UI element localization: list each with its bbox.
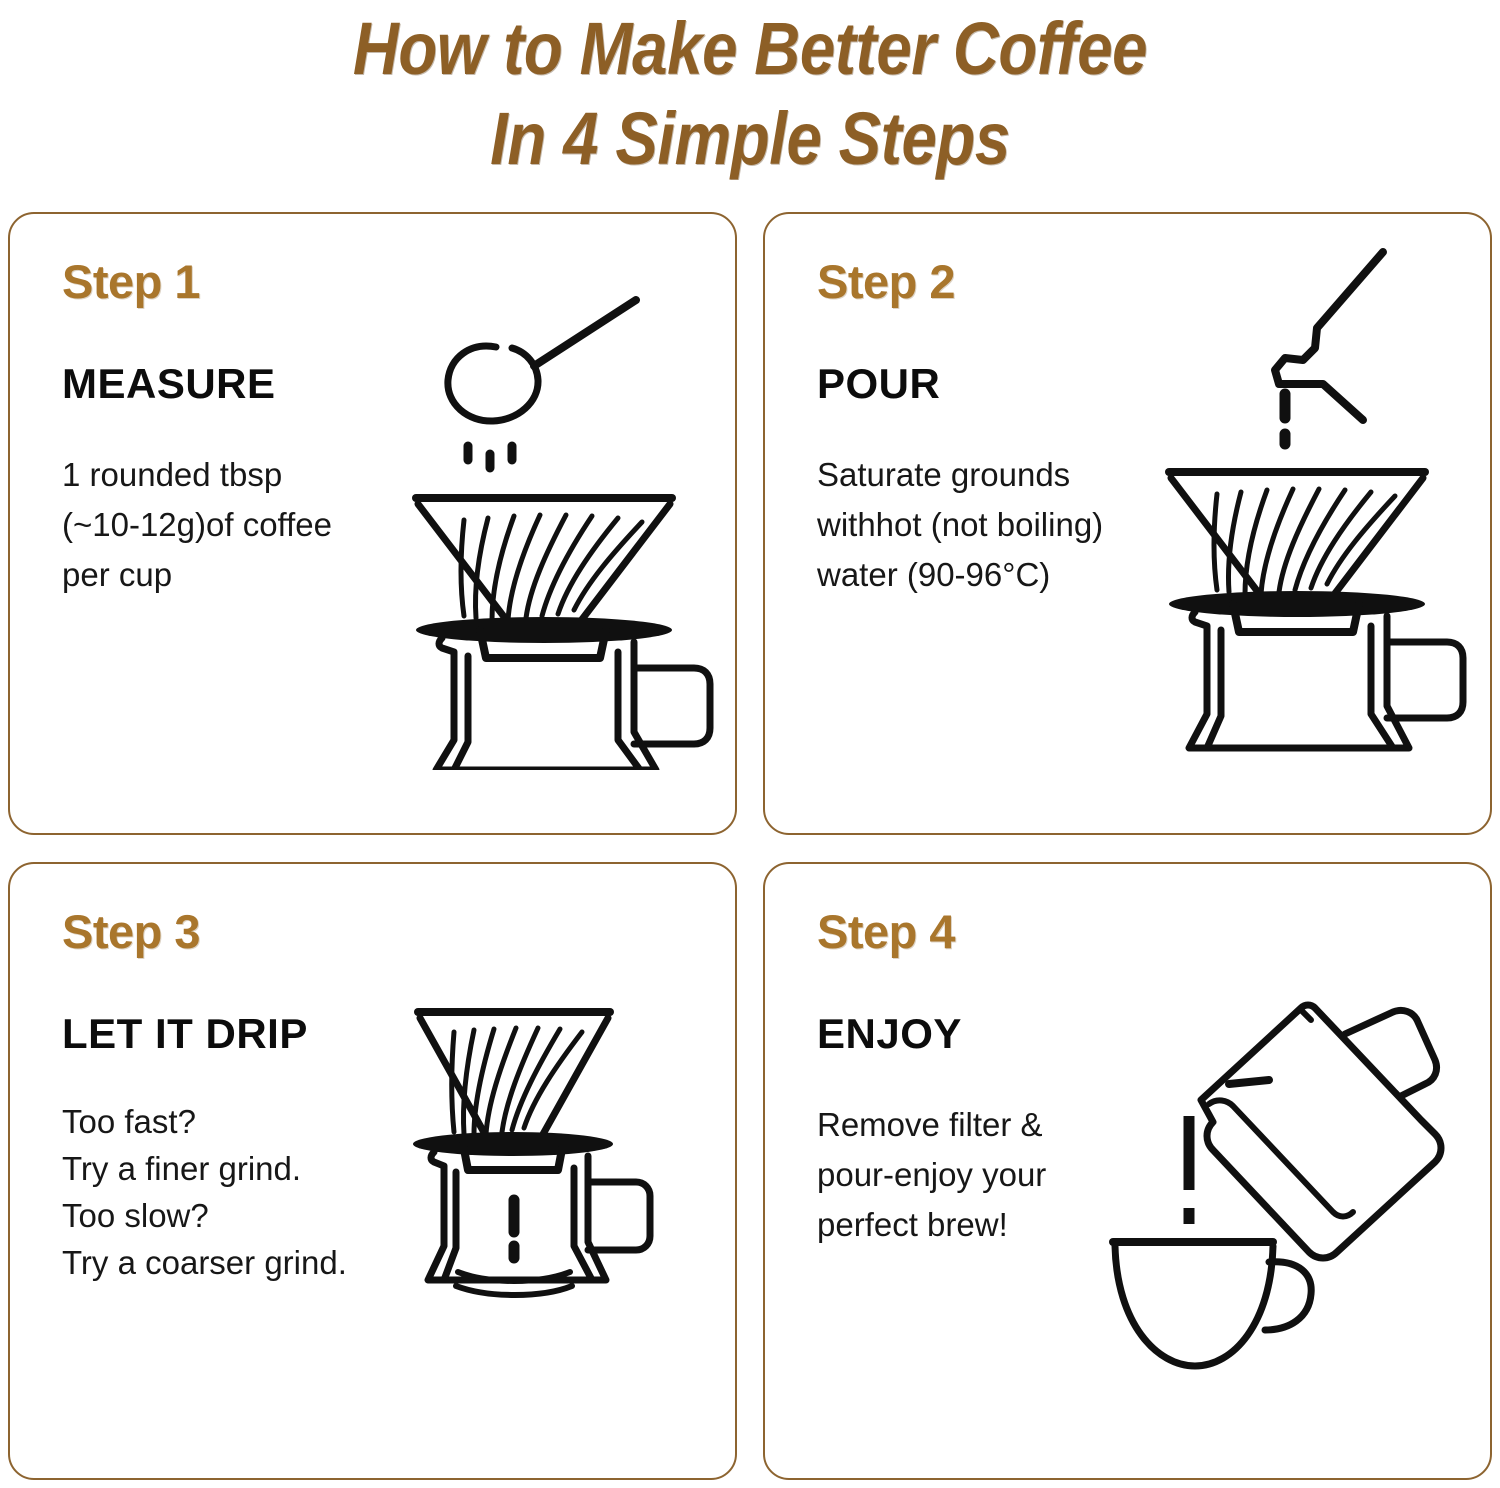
step-2-text: Step 2 POUR Saturate grounds withhot (no… [817,254,1187,600]
step-1-label: Step 1 [62,254,432,310]
steps-grid: Step 1 MEASURE 1 rounded tbsp (~10-12g)o… [8,212,1492,1480]
step-1-description: 1 rounded tbsp (~10-12g)of coffee per cu… [62,450,432,600]
page-title: How to Make Better Coffee In 4 Simple St… [0,4,1500,184]
pour-illustration [1157,244,1477,784]
step-3-label: Step 3 [62,904,432,960]
step-card-3[interactable]: Step 3 LET IT DRIP Too fast? Try a finer… [8,862,737,1480]
title-line-1: How to Make Better Coffee [105,4,1395,94]
step-card-2[interactable]: Step 2 POUR Saturate grounds withhot (no… [763,212,1492,835]
step-3-description: Too fast? Try a finer grind. Too slow? T… [62,1098,432,1286]
step-card-4[interactable]: Step 4 ENJOY Remove filter & pour-enjoy … [763,862,1492,1480]
step-4-action: ENJOY [817,1010,1187,1058]
measure-illustration [408,270,718,770]
step-card-1[interactable]: Step 1 MEASURE 1 rounded tbsp (~10-12g)o… [8,212,737,835]
step-2-action: POUR [817,360,1187,408]
step-4-label: Step 4 [817,904,1187,960]
step-1-text: Step 1 MEASURE 1 rounded tbsp (~10-12g)o… [62,254,432,600]
step-2-label: Step 2 [817,254,1187,310]
title-line-2: In 4 Simple Steps [105,94,1395,184]
step-3-text: Step 3 LET IT DRIP Too fast? Try a finer… [62,904,432,1286]
step-4-text: Step 4 ENJOY Remove filter & pour-enjoy … [817,904,1187,1250]
step-4-description: Remove filter & pour-enjoy your perfect … [817,1100,1187,1250]
step-3-action: LET IT DRIP [62,1010,432,1058]
step-1-action: MEASURE [62,360,432,408]
let-it-drip-illustration [410,984,710,1384]
step-2-description: Saturate grounds withhot (not boiling) w… [817,450,1187,600]
infographic-page: How to Make Better Coffee In 4 Simple St… [0,0,1500,1488]
